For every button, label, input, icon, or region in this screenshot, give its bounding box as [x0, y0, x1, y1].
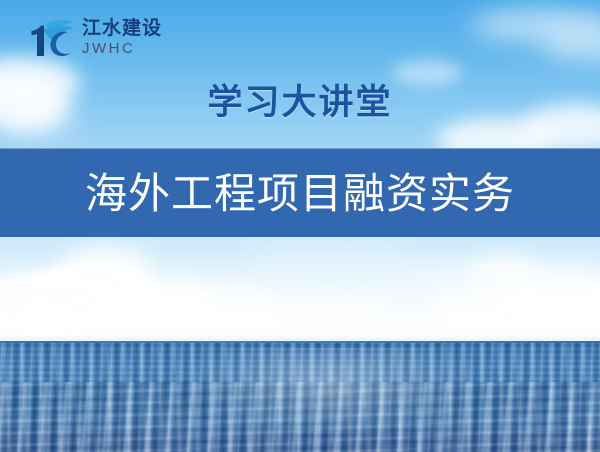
jwhc-logo-mark-icon — [28, 15, 76, 59]
company-logo: 江水建设 JWHC — [28, 13, 163, 61]
cloud-mid-right-a — [392, 60, 462, 86]
page-headline: 学习大讲堂 — [0, 84, 600, 123]
ocean-sun-sheen — [180, 348, 480, 434]
logo-wordmark: 江水建设 JWHC — [82, 19, 162, 56]
logo-company-name-cn: 江水建设 — [82, 19, 162, 38]
banner-title-text: 海外工程项目融资实务 — [85, 173, 515, 215]
logo-company-name-en: JWHC — [82, 41, 162, 56]
title-banner: 海外工程项目融资实务 — [0, 148, 600, 237]
horizon-line — [0, 341, 600, 343]
cloud-streak-c — [250, 248, 410, 260]
ocean — [0, 342, 600, 452]
poster-canvas: 江水建设 JWHC 学习大讲堂 海外工程项目融资实务 — [0, 0, 600, 452]
